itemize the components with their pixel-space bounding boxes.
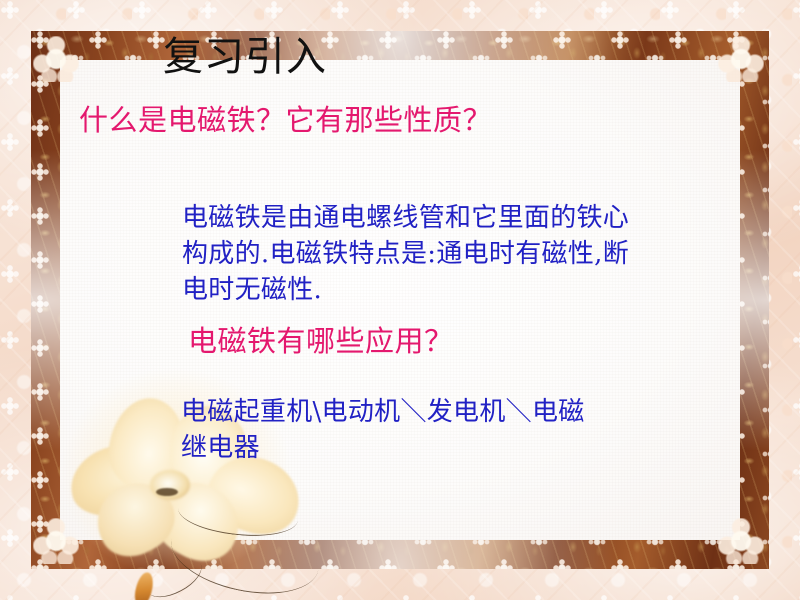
question-heading-2: 电磁铁有哪些应用？ [188, 325, 454, 358]
answer-line: 构成的.电磁铁特点是:通电时有磁性,断 [182, 239, 629, 269]
answer-text-1: 电磁铁是由通电螺线管和它里面的铁心 构成的.电磁铁特点是:通电时有磁性,断 电时… [182, 200, 629, 308]
slide-title: 复习引入 [163, 36, 327, 78]
answer-line: 电时无磁性. [182, 275, 322, 305]
answer-line: 电磁铁是由通电螺线管和它里面的铁心 [182, 203, 629, 233]
slide-canvas: 复习引入 什么是电磁铁？它有那些性质？ 电磁铁是由通电螺线管和它里面的铁心 构成… [0, 0, 800, 600]
slide-content: 复习引入 什么是电磁铁？它有那些性质？ 电磁铁是由通电螺线管和它里面的铁心 构成… [0, 0, 800, 600]
answer-line: 电磁起重机\电动机＼发电机＼电磁 [181, 397, 585, 427]
question-heading-1: 什么是电磁铁？它有那些性质？ [79, 104, 492, 137]
answer-line: 继电器 [181, 433, 260, 463]
answer-text-2: 电磁起重机\电动机＼发电机＼电磁 继电器 [181, 394, 585, 466]
